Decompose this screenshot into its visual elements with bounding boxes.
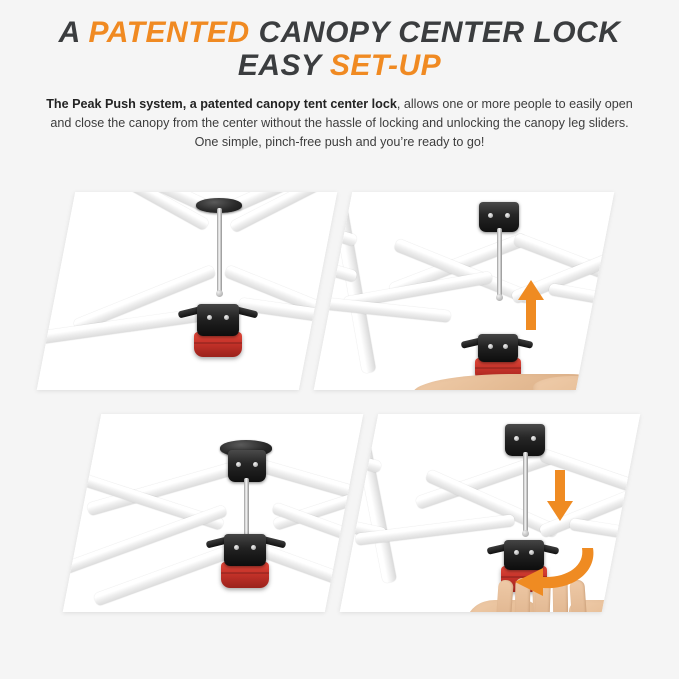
collar-band: [221, 572, 269, 574]
wrist: [533, 376, 614, 390]
title-word-a: A: [59, 16, 89, 49]
center-lock-rod: [523, 452, 528, 532]
arrow-head: [547, 501, 573, 521]
canopy-leg: [328, 192, 377, 374]
panel-open-locked-photo: [63, 414, 363, 612]
arrow-head: [518, 280, 544, 300]
center-lock-rod: [244, 478, 249, 536]
hand-open-palm: [413, 370, 614, 390]
panel-pull-down: [340, 414, 640, 612]
arrow-up-icon: [518, 280, 544, 330]
rod-tip: [496, 294, 503, 301]
panel-pull-down-photo: [340, 414, 640, 612]
arrow-down-icon: [547, 470, 573, 522]
truss-bar: [238, 297, 337, 339]
page-title-line-1: A PATENTED CANOPY CENTER LOCK: [0, 18, 679, 49]
title-word-patented: PATENTED: [89, 16, 250, 49]
truss-bar: [548, 283, 614, 321]
center-lock-rod: [217, 208, 222, 292]
panel-push-up-photo: [314, 192, 614, 390]
page-title-line-2: EASY SET-UP: [0, 51, 679, 82]
title-word-easy: EASY: [238, 49, 330, 82]
rod-tip: [216, 290, 223, 297]
arrow-shaft: [526, 299, 536, 330]
panel-open-locked: [63, 414, 363, 612]
collar-band: [194, 342, 242, 344]
panel-closed-folded: [37, 192, 337, 390]
center-lock-hub: [224, 534, 266, 566]
arrow-shaft: [555, 470, 565, 502]
title-word-setup: SET-UP: [330, 49, 441, 82]
center-lock-rod: [497, 228, 502, 296]
center-lock-hub: [197, 304, 239, 336]
center-lock-hub: [478, 334, 518, 362]
description-line-2: One simple, pinch-free push and you’re r…: [195, 135, 485, 149]
panel-grid: [0, 186, 679, 646]
collar-band: [475, 367, 521, 369]
description-paragraph: The Peak Push system, a patented canopy …: [45, 95, 635, 152]
title-word-rest: CANOPY CENTER LOCK: [250, 16, 621, 49]
header: A PATENTED CANOPY CENTER LOCK EASY SET-U…: [0, 0, 679, 153]
arrow-rotate-icon: [481, 538, 601, 600]
rod-tip: [522, 530, 529, 537]
description-bold-lead: The Peak Push system, a patented canopy …: [46, 97, 397, 111]
panel-push-up: [314, 192, 614, 390]
panel-closed-folded-photo: [37, 192, 337, 390]
